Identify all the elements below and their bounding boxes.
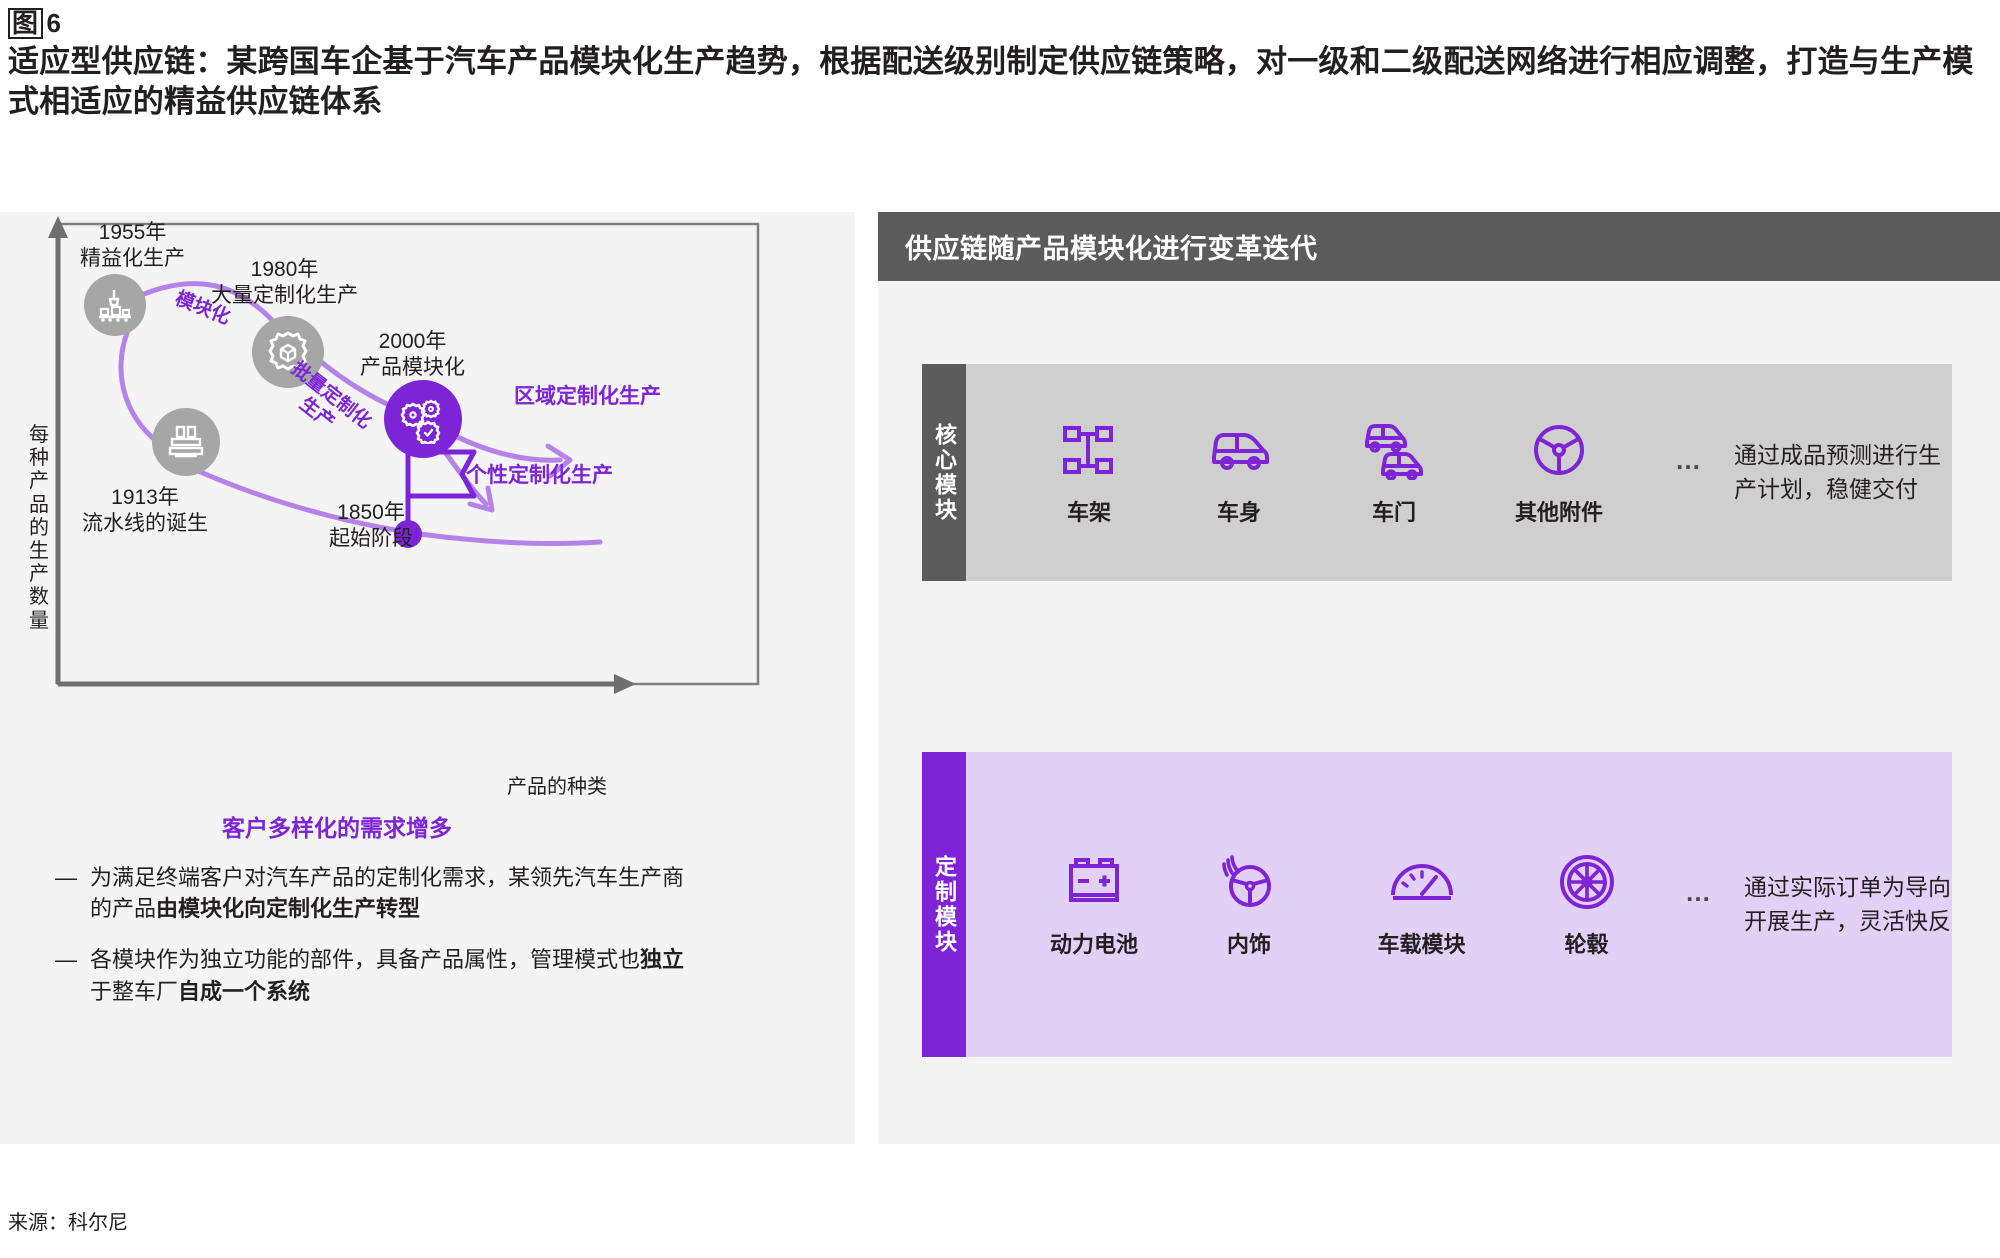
node-year-1980: 1980年 <box>211 257 358 283</box>
bullet-text-1: 为满足终端客户对汽车产品的定制化需求，某领先汽车生产商的产品由模块化向定制化生产… <box>90 862 695 924</box>
bullet-item-1: — 为满足终端客户对汽车产品的定制化需求，某领先汽车生产商的产品由模块化向定制化… <box>55 862 695 924</box>
steering-wheel-icon <box>1529 420 1589 480</box>
core-icon-2 <box>1206 419 1272 481</box>
custom-icon-4 <box>1558 851 1616 913</box>
figure-label: 图 <box>8 8 43 39</box>
core-module-tab: 核心模块 <box>922 364 966 581</box>
car-body-icon <box>1206 425 1272 475</box>
node-year-1913: 1913年 <box>82 485 208 511</box>
custom-module-note: 通过实际订单为导向开展生产，灵活快反 <box>1744 871 1959 938</box>
bullet-text-2: 各模块作为独立功能的部件，具备产品属性，管理模式也独立于整车厂自成一个系统 <box>90 944 695 1006</box>
core-module-tab-label: 核心模块 <box>928 423 960 523</box>
bullet-dash-1: — <box>55 862 77 924</box>
module-item-body[interactable]: 车身 <box>1164 419 1314 527</box>
source-note: 来源：科尔尼 <box>8 1206 128 1235</box>
page-title: 适应型供应链：某跨国车企基于汽车产品模块化生产趋势，根据配送级别制定供应链策略，… <box>8 42 1983 123</box>
battery-icon <box>1063 854 1125 910</box>
custom-module-tab-label: 定制模块 <box>928 855 960 955</box>
node-year-2000: 2000年 <box>360 329 465 355</box>
node-marker-1955 <box>84 274 146 336</box>
module-label-chassis: 车架 <box>1067 495 1111 527</box>
node-desc-1980: 大量定制化生产 <box>211 283 358 309</box>
flag-icon <box>408 448 474 530</box>
module-item-onboard[interactable]: 车载模块 <box>1324 851 1519 959</box>
bullet-2-mid: 于整车厂 <box>90 979 178 1004</box>
core-module-note: 通过成品预测进行生产计划，稳健交付 <box>1734 439 1949 506</box>
conveyor-belt-icon <box>165 421 207 463</box>
node-label-1980: 1980年 大量定制化生产 <box>211 257 358 310</box>
custom-module-ellipsis: … <box>1654 877 1744 908</box>
node-label-1955: 1955年 精益化生产 <box>80 220 185 273</box>
bullet-dash-2: — <box>55 944 77 1006</box>
module-item-battery[interactable]: 动力电池 <box>1014 851 1174 959</box>
module-label-accessories: 其他附件 <box>1515 495 1603 527</box>
custom-module-tab: 定制模块 <box>922 752 966 1057</box>
arrow-label-personal-customization: 个性定制化生产 <box>466 459 613 489</box>
right-panel: 供应链随产品模块化进行变革迭代 核心模块 车 <box>878 212 2000 1144</box>
node-desc-2000: 产品模块化 <box>360 355 465 381</box>
module-label-onboard: 车载模块 <box>1377 927 1465 959</box>
wheel-hub-icon <box>1558 853 1616 911</box>
node-label-1850: 1850年 起始阶段 <box>329 500 413 553</box>
node-marker-2000 <box>384 380 462 458</box>
core-icon-1 <box>1059 419 1119 481</box>
node-label-2000: 2000年 产品模块化 <box>360 329 465 382</box>
robot-arm-assembly-icon <box>97 287 133 323</box>
node-desc-1850: 起始阶段 <box>329 526 413 552</box>
bullet-item-2: — 各模块作为独立功能的部件，具备产品属性，管理模式也独立于整车厂自成一个系统 <box>55 944 695 1006</box>
custom-module-row: 定制模块 动力电池 <box>922 752 1952 1057</box>
figure-number: 图6 <box>8 8 61 39</box>
core-icon-3 <box>1361 419 1427 481</box>
figure-number-value: 6 <box>47 8 62 38</box>
node-desc-1913: 流水线的诞生 <box>82 511 208 537</box>
node-marker-1913 <box>152 408 220 476</box>
car-door-icon <box>1361 420 1427 480</box>
dashboard-gauge-icon <box>1388 858 1456 906</box>
core-module-ellipsis: … <box>1644 445 1734 476</box>
custom-module-items: 动力电池 内饰 <box>966 752 1959 1057</box>
module-label-hub: 轮毂 <box>1564 927 1608 959</box>
custom-icon-1 <box>1063 851 1125 913</box>
module-item-accessories[interactable]: 其他附件 <box>1474 419 1644 527</box>
left-bullet-list: — 为满足终端客户对汽车产品的定制化需求，某领先汽车生产商的产品由模块化向定制化… <box>55 862 695 1027</box>
node-label-1913: 1913年 流水线的诞生 <box>82 485 208 538</box>
module-label-interior: 内饰 <box>1227 927 1271 959</box>
node-desc-1955: 精益化生产 <box>80 246 185 272</box>
connected-steering-wheel-icon <box>1218 852 1280 912</box>
bullet-2-bold2: 自成一个系统 <box>178 979 310 1004</box>
bullet-2-bold: 独立 <box>640 947 684 972</box>
customer-demand-callout: 客户多样化的需求增多 <box>222 809 452 843</box>
core-module-items: 车架 车身 <box>966 364 1952 581</box>
custom-icon-3 <box>1388 851 1456 913</box>
bullet-1-bold: 由模块化向定制化生产转型 <box>156 896 420 921</box>
module-item-door[interactable]: 车门 <box>1314 419 1474 527</box>
multi-gears-icon <box>398 394 448 444</box>
bullet-2-pre: 各模块作为独立功能的部件，具备产品属性，管理模式也 <box>90 947 640 972</box>
module-item-interior[interactable]: 内饰 <box>1174 851 1324 959</box>
right-panel-header-title: 供应链随产品模块化进行变革迭代 <box>905 227 1318 266</box>
core-module-row: 核心模块 车架 <box>922 364 1952 581</box>
car-chassis-icon <box>1059 420 1119 480</box>
module-item-chassis[interactable]: 车架 <box>1014 419 1164 527</box>
node-year-1850: 1850年 <box>329 500 413 526</box>
module-label-battery: 动力电池 <box>1050 927 1138 959</box>
arrow-label-regional-customization: 区域定制化生产 <box>514 380 661 410</box>
core-icon-4 <box>1529 419 1589 481</box>
right-panel-header: 供应链随产品模块化进行变革迭代 <box>878 212 2000 281</box>
left-panel: 每种产品的生产数量 产品的种类 <box>0 212 855 1144</box>
module-label-door: 车门 <box>1372 495 1416 527</box>
module-label-body: 车身 <box>1217 495 1261 527</box>
module-item-hub[interactable]: 轮毂 <box>1519 851 1654 959</box>
node-year-1955: 1955年 <box>80 220 185 246</box>
custom-icon-2 <box>1218 851 1280 913</box>
